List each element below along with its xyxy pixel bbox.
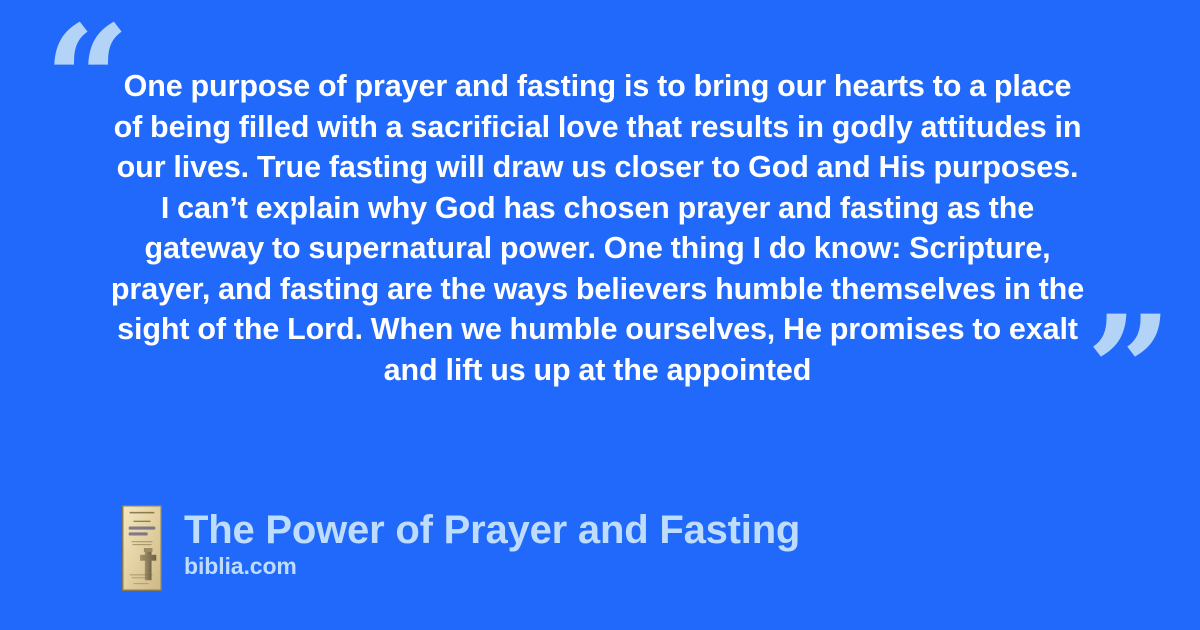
close-quote-mark-icon: ”	[1086, 296, 1169, 446]
book-title: The Power of Prayer and Fasting	[184, 507, 800, 553]
quote-block: One purpose of prayer and fasting is to …	[110, 66, 1085, 390]
footer-attribution: The Power of Prayer and Fasting biblia.c…	[122, 505, 800, 591]
footer-text-group: The Power of Prayer and Fasting biblia.c…	[184, 505, 800, 580]
quote-card: “ One purpose of prayer and fasting is t…	[0, 0, 1200, 630]
book-cover-thumbnail-icon	[122, 505, 162, 591]
quote-text: One purpose of prayer and fasting is to …	[110, 66, 1085, 390]
source-site-name: biblia.com	[184, 553, 800, 580]
